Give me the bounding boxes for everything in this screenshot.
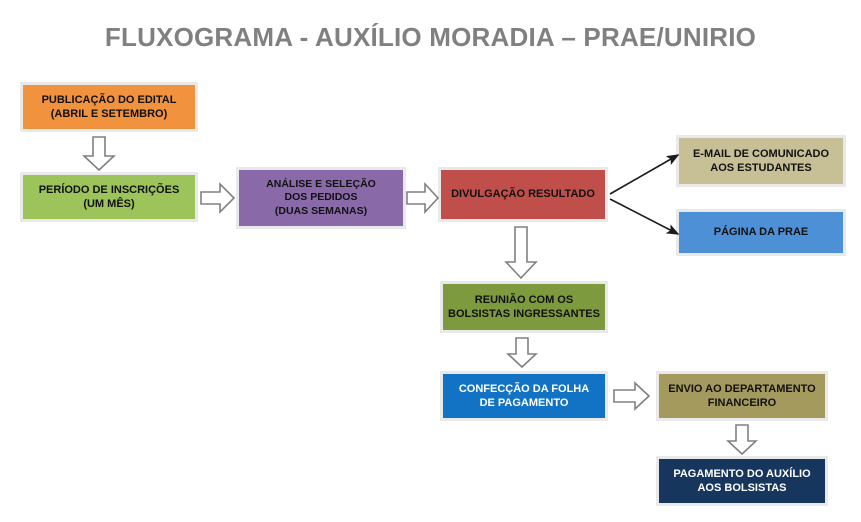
- arrow-analise-to-divulgacao-icon: [406, 182, 440, 214]
- node-label-line2: DE PAGAMENTO: [447, 396, 601, 410]
- node-periodo-de-inscricoes[interactable]: PERÍODO DE INSCRIÇÕES (UM MÊS): [20, 172, 198, 222]
- flowchart-canvas: FLUXOGRAMA - AUXÍLIO MORADIA – PRAE/UNIR…: [0, 0, 861, 522]
- node-analise-e-selecao[interactable]: ANÁLISE E SELEÇÃO DOS PEDIDOS (DUAS SEMA…: [236, 167, 406, 229]
- page-title: FLUXOGRAMA - AUXÍLIO MORADIA – PRAE/UNIR…: [0, 22, 861, 53]
- arrow-inscricoes-to-analise-icon: [200, 182, 236, 214]
- node-label-line2: AOS ESTUDANTES: [683, 161, 839, 175]
- arrow-envio-to-pagamento-icon: [726, 424, 758, 456]
- node-email-de-comunicado[interactable]: E-MAIL DE COMUNICADO AOS ESTUDANTES: [676, 135, 846, 187]
- node-label-line1: REUNIÃO COM OS: [447, 293, 601, 307]
- node-label-line2: (UM MÊS): [27, 197, 191, 211]
- arrow-divulgacao-to-reuniao-icon: [504, 226, 538, 280]
- node-pagina-da-prae[interactable]: PÁGINA DA PRAE: [676, 209, 846, 256]
- arrow-divulgacao-to-pagina-icon: [608, 192, 688, 242]
- node-label-line2: BOLSISTAS INGRESSANTES: [447, 307, 601, 321]
- node-label-line2: (ABRIL E SETEMBRO): [27, 107, 191, 121]
- node-label-line1: ENVIO AO DEPARTAMENTO: [663, 382, 821, 396]
- node-confeccao-da-folha-de-pagamento[interactable]: CONFECÇÃO DA FOLHA DE PAGAMENTO: [440, 371, 608, 421]
- node-reuniao-com-os-bolsistas[interactable]: REUNIÃO COM OS BOLSISTAS INGRESSANTES: [440, 281, 608, 333]
- node-divulgacao-resultado[interactable]: DIVULGAÇÃO RESULTADO: [438, 167, 608, 222]
- node-label-line1: PUBLICAÇÃO DO EDITAL: [27, 93, 191, 107]
- node-label-line1: ANÁLISE E SELEÇÃO: [243, 178, 399, 191]
- node-label-line2: AOS BOLSISTAS: [663, 481, 821, 495]
- node-label-line1: PAGAMENTO DO AUXÍLIO: [663, 467, 821, 481]
- arrow-confeccao-to-envio-icon: [613, 381, 651, 411]
- node-label-line1: PÁGINA DA PRAE: [683, 225, 839, 239]
- node-label-line2: DOS PEDIDOS: [243, 191, 399, 204]
- node-label-line2: FINANCEIRO: [663, 396, 821, 410]
- node-label-line1: E-MAIL DE COMUNICADO: [683, 147, 839, 161]
- node-pagamento-do-auxilio[interactable]: PAGAMENTO DO AUXÍLIO AOS BOLSISTAS: [656, 456, 828, 506]
- arrow-edital-to-inscricoes-icon: [82, 136, 116, 172]
- node-label-line1: CONFECÇÃO DA FOLHA: [447, 382, 601, 396]
- arrow-reuniao-to-confeccao-icon: [506, 337, 538, 369]
- node-envio-ao-departamento-financeiro[interactable]: ENVIO AO DEPARTAMENTO FINANCEIRO: [656, 371, 828, 421]
- node-publicacao-do-edital[interactable]: PUBLICAÇÃO DO EDITAL (ABRIL E SETEMBRO): [20, 82, 198, 132]
- node-label-line1: DIVULGAÇÃO RESULTADO: [445, 187, 601, 201]
- node-label-line1: PERÍODO DE INSCRIÇÕES: [27, 183, 191, 197]
- node-label-line3: (DUAS SEMANAS): [243, 205, 399, 218]
